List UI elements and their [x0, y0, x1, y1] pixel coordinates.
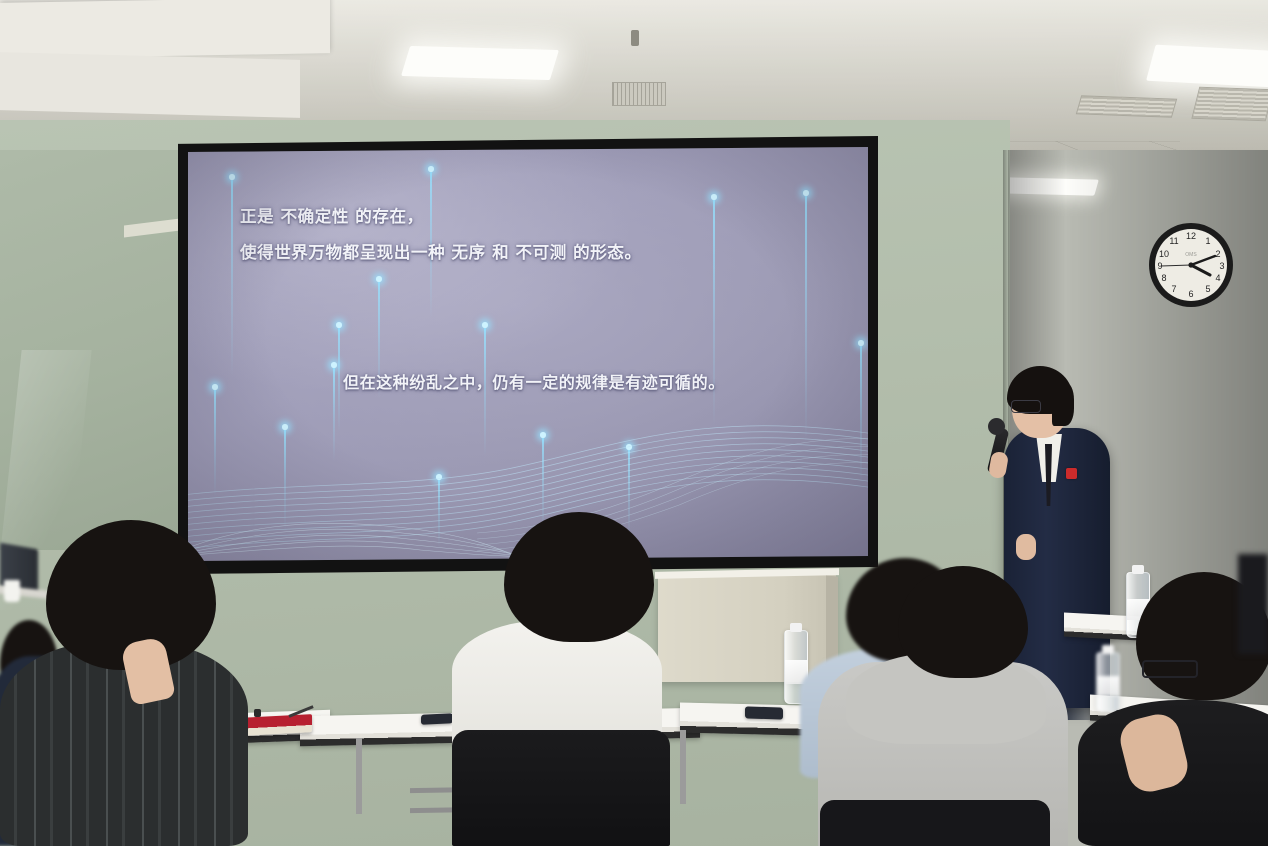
svg-text:12: 12 — [1186, 231, 1196, 241]
smartphone — [421, 713, 453, 725]
projection-screen[interactable]: 正是 不确定性 的存在， 使得世界万物都呈现出一种 无序 和 不可测 的形态。 … — [188, 147, 868, 561]
glass-whiteboard — [0, 150, 186, 550]
chair-back — [820, 800, 1050, 846]
svg-text:11: 11 — [1169, 236, 1178, 246]
chair-back — [452, 730, 670, 846]
foreground-table — [0, 52, 300, 118]
svg-text:8: 8 — [1161, 273, 1166, 283]
wall-clock-icon: 12 1 2 3 4 5 6 7 8 9 10 11 OMS — [1148, 222, 1234, 308]
water-bottle — [1096, 652, 1120, 712]
svg-text:4: 4 — [1215, 273, 1220, 283]
pen-cap — [254, 709, 261, 717]
foreground-table — [0, 0, 330, 59]
attendee-edge — [1238, 554, 1268, 654]
svg-text:5: 5 — [1205, 284, 1210, 294]
svg-text:3: 3 — [1219, 261, 1224, 271]
attendee-glasses — [1142, 660, 1198, 678]
ceiling-speaker — [612, 82, 666, 106]
microphone-head — [988, 418, 1005, 435]
table-leg — [356, 738, 362, 814]
ceiling-light-panel — [401, 46, 559, 80]
table-leg — [680, 730, 686, 804]
svg-text:10: 10 — [1159, 249, 1169, 259]
clock-brand-label: OMS — [1185, 252, 1197, 258]
sprinkler-head — [631, 30, 639, 46]
presenter-resting-hand — [1016, 534, 1036, 560]
svg-text:7: 7 — [1171, 284, 1176, 294]
air-vent — [1076, 95, 1177, 117]
classroom-presentation-photo: 12 1 2 3 4 5 6 7 8 9 10 11 OMS — [0, 0, 1268, 846]
svg-text:6: 6 — [1188, 289, 1193, 299]
ceiling-light-panel — [1146, 45, 1268, 88]
attendee-torso — [0, 640, 248, 846]
podium-cabinet — [658, 574, 836, 682]
presenter-glasses — [1011, 400, 1041, 413]
air-vent — [1191, 87, 1268, 122]
svg-text:1: 1 — [1205, 236, 1210, 246]
screen-vignette — [188, 147, 868, 561]
paper-cup — [4, 580, 20, 602]
svg-text:2: 2 — [1215, 249, 1220, 259]
presenter-lapel-badge — [1066, 468, 1077, 479]
red-notebook — [240, 714, 312, 736]
presenter-hair-side — [1052, 382, 1074, 426]
smartphone — [745, 706, 783, 719]
